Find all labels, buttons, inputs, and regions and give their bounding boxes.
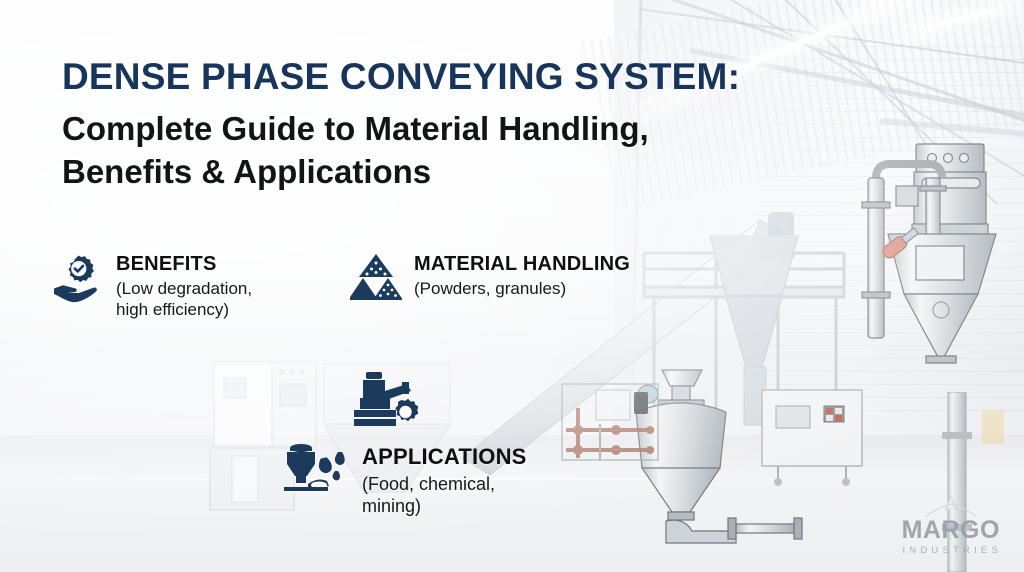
- feature-benefits-text: BENEFITS (Low degradation, high efficien…: [116, 252, 252, 321]
- page-subtitle-line-2: Benefits & Applications: [62, 151, 649, 194]
- page-subtitle: Complete Guide to Material Handling, Ben…: [62, 108, 649, 194]
- feature-benefits-title: BENEFITS: [116, 252, 252, 276]
- feature-material-handling-text: MATERIAL HANDLING (Powders, granules): [414, 252, 630, 300]
- feature-applications-row: APPLICATIONS (Food, chemical, mining): [282, 440, 527, 518]
- feature-material-handling-sub-line-1: (Powders, granules): [414, 279, 630, 300]
- feature-material-handling-title: MATERIAL HANDLING: [414, 252, 630, 276]
- brand-logo: MARGO INDUSTRIES: [899, 495, 1002, 556]
- feature-material-handling: MATERIAL HANDLING (Powders, granules): [350, 252, 630, 302]
- feature-benefits: BENEFITS (Low degradation, high efficien…: [52, 252, 252, 321]
- page-title: DENSE PHASE CONVEYING SYSTEM:: [62, 56, 740, 98]
- brand-logo-tagline: INDUSTRIES: [899, 545, 1002, 556]
- hopper-pouring-droplets-icon: [282, 440, 352, 494]
- hero-banner: DENSE PHASE CONVEYING SYSTEM: Complete G…: [0, 0, 1024, 572]
- content-layer: DENSE PHASE CONVEYING SYSTEM: Complete G…: [0, 0, 1024, 572]
- feature-benefits-sub-line-2: high efficiency): [116, 300, 252, 321]
- feature-applications-title: APPLICATIONS: [362, 444, 527, 471]
- material-piles-triangles-icon: [350, 252, 402, 302]
- feature-benefits-sub-line-1: (Low degradation,: [116, 279, 252, 300]
- brand-logo-name: MARGO: [899, 518, 1002, 543]
- feature-applications-text: APPLICATIONS (Food, chemical, mining): [362, 440, 527, 518]
- conveyor-machine-gear-icon: [350, 370, 418, 432]
- hand-holding-gear-check-icon: [52, 252, 104, 304]
- peak-arrow-mark-icon: [899, 495, 1002, 517]
- feature-applications-sub-line-1: (Food, chemical, mining): [362, 474, 527, 518]
- page-subtitle-line-1: Complete Guide to Material Handling,: [62, 108, 649, 151]
